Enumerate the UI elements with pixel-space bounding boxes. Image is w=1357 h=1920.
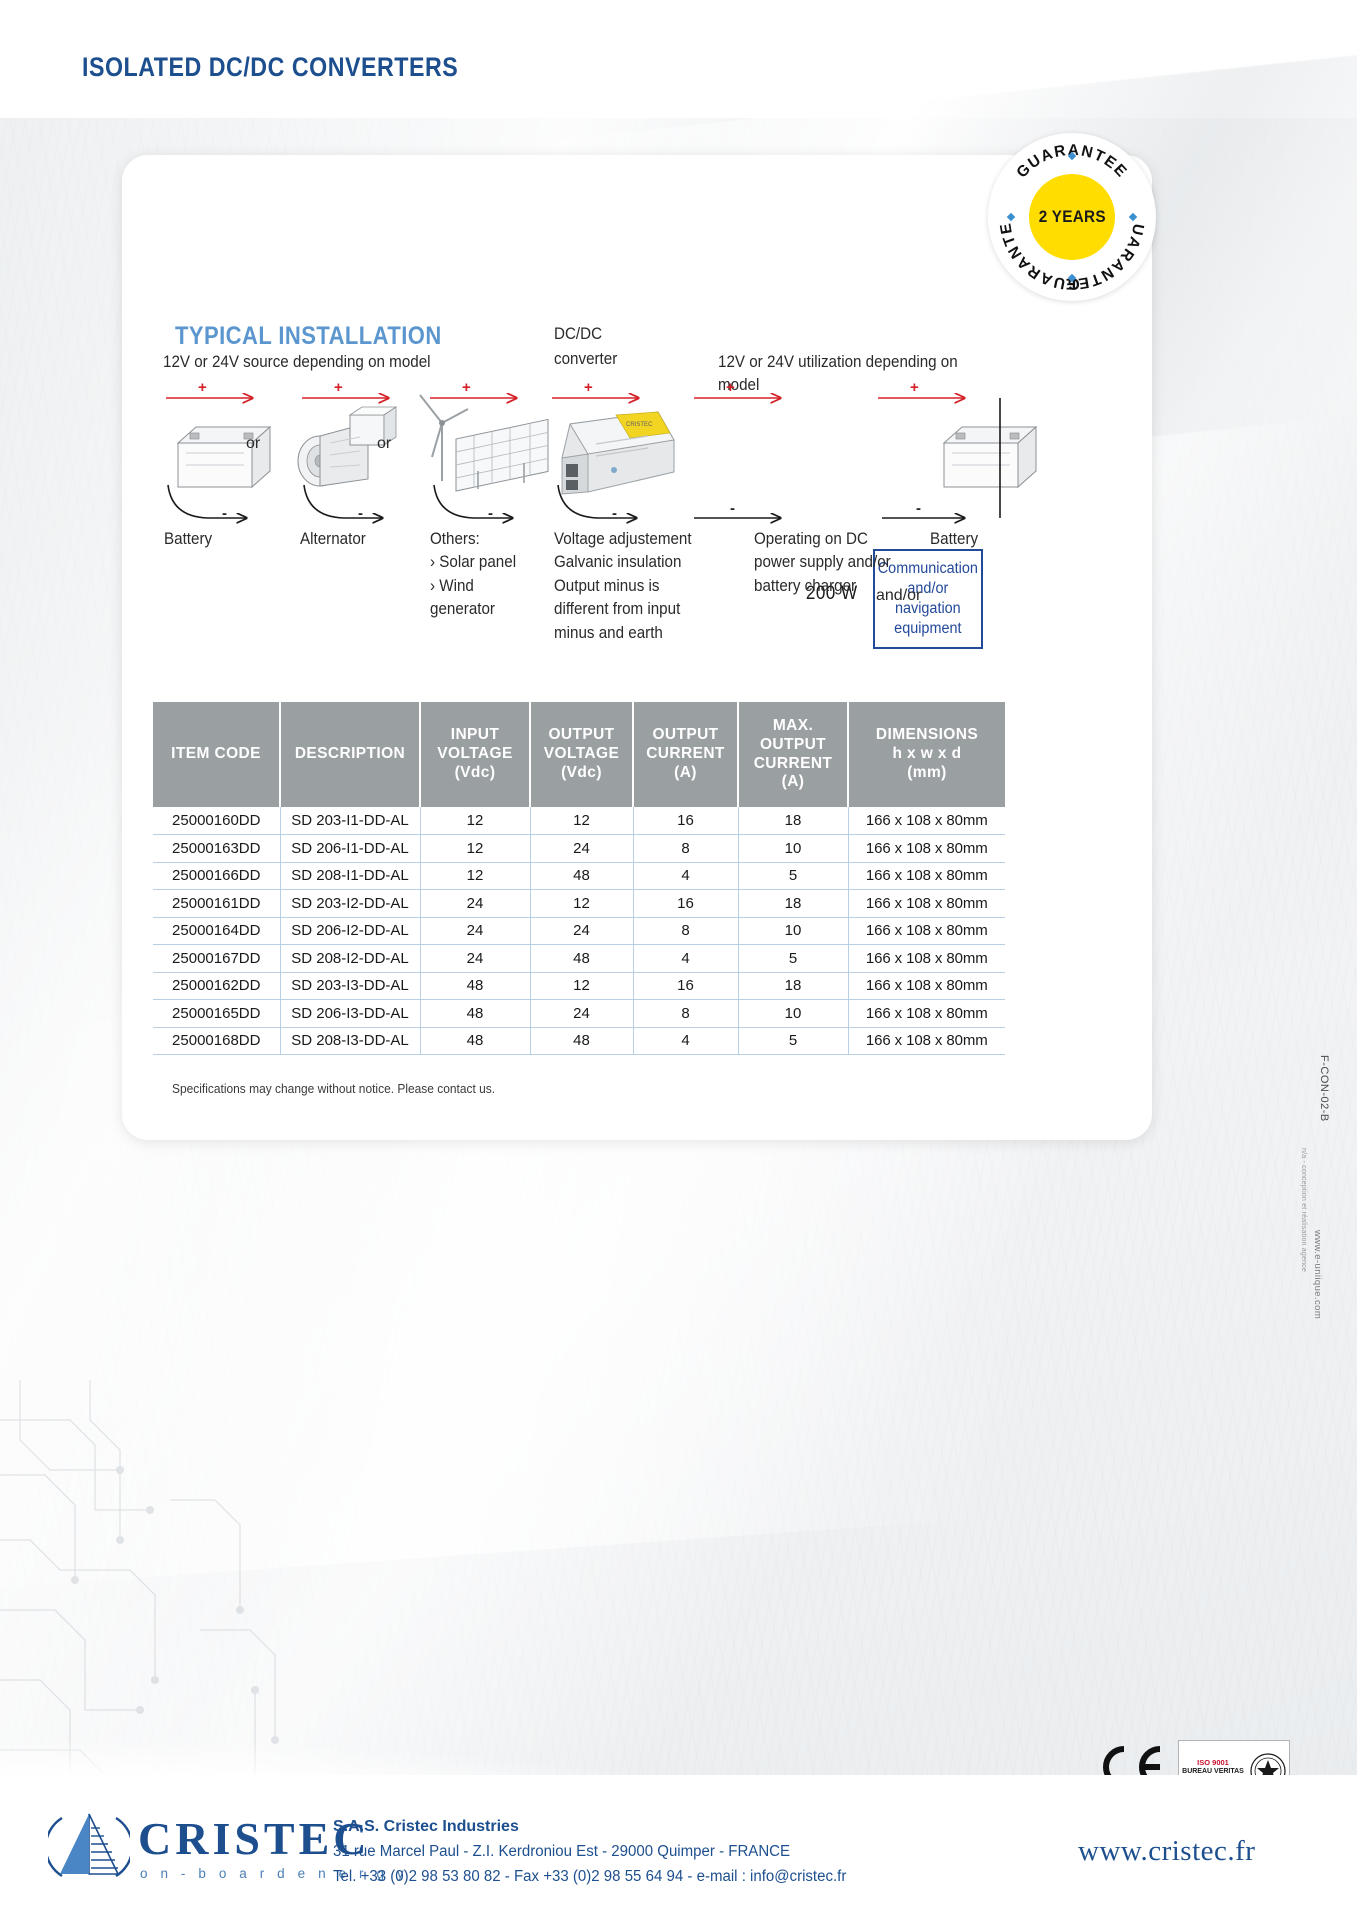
table-cell-output-voltage: 24 xyxy=(530,835,633,863)
table-row: 25000161DDSD 203-I2-DD-AL24121618166 x 1… xyxy=(153,890,1005,918)
table-cell-output-voltage: 24 xyxy=(530,1000,633,1028)
table-cell-dimensions: 166 x 108 x 80mm xyxy=(848,807,1005,835)
table-cell-dimensions: 166 x 108 x 80mm xyxy=(848,945,1005,973)
table-cell-description: SD 208-I2-DD-AL xyxy=(280,945,420,973)
table-cell-max-output-current: 10 xyxy=(738,1000,848,1028)
col-output-voltage: OUTPUT VOLTAGE (Vdc) xyxy=(530,702,633,807)
table-cell-max-output-current: 18 xyxy=(738,890,848,918)
table-cell-max-output-current: 5 xyxy=(738,862,848,890)
table-cell-max-output-current: 18 xyxy=(738,972,848,1000)
table-cell-dimensions: 166 x 108 x 80mm xyxy=(848,1000,1005,1028)
table-cell-dimensions: 166 x 108 x 80mm xyxy=(848,972,1005,1000)
table-cell-dimensions: 166 x 108 x 80mm xyxy=(848,1027,1005,1055)
table-row: 25000164DDSD 206-I2-DD-AL2424810166 x 10… xyxy=(153,917,1005,945)
table-cell-dimensions: 166 x 108 x 80mm xyxy=(848,835,1005,863)
company-address: 31 rue Marcel Paul - Z.I. Kerdroniou Est… xyxy=(333,1843,790,1861)
company-contact: Tel. +33 (0)2 98 53 80 82 - Fax +33 (0)2… xyxy=(333,1868,846,1886)
company-website[interactable]: www.cristec.fr xyxy=(1078,1835,1255,1868)
minus-sign-1: - xyxy=(222,505,227,522)
table-cell-output-voltage: 12 xyxy=(530,890,633,918)
table-cell-output-current: 8 xyxy=(633,835,738,863)
table-cell-item-code: 25000161DD xyxy=(153,890,280,918)
table-cell-input-voltage: 48 xyxy=(420,972,530,1000)
plus-sign-1: + xyxy=(198,379,207,396)
table-cell-output-current: 8 xyxy=(633,917,738,945)
plus-sign-2: + xyxy=(334,379,343,396)
table-row: 25000166DDSD 208-I1-DD-AL124845166 x 108… xyxy=(153,862,1005,890)
table-cell-input-voltage: 24 xyxy=(420,917,530,945)
table-cell-output-voltage: 24 xyxy=(530,917,633,945)
page-title: ISOLATED DC/DC CONVERTERS xyxy=(82,52,458,83)
table-cell-input-voltage: 24 xyxy=(420,945,530,973)
table-cell-output-current: 4 xyxy=(633,945,738,973)
col-output-current: OUTPUT CURRENT (A) xyxy=(633,702,738,807)
table-cell-dimensions: 166 x 108 x 80mm xyxy=(848,890,1005,918)
table-cell-item-code: 25000160DD xyxy=(153,807,280,835)
table-cell-description: SD 206-I3-DD-AL xyxy=(280,1000,420,1028)
col-description: DESCRIPTION xyxy=(280,702,420,807)
col-max-output-current: MAX. OUTPUT CURRENT (A) xyxy=(738,702,848,807)
col-item-code: ITEM CODE xyxy=(153,702,280,807)
table-cell-max-output-current: 18 xyxy=(738,807,848,835)
table-row: 25000167DDSD 208-I2-DD-AL244845166 x 108… xyxy=(153,945,1005,973)
table-cell-output-voltage: 12 xyxy=(530,807,633,835)
table-cell-description: SD 208-I3-DD-AL xyxy=(280,1027,420,1055)
minus-sign-6: - xyxy=(916,500,921,517)
table-cell-output-current: 16 xyxy=(633,890,738,918)
specifications-table: ITEM CODE DESCRIPTION INPUT VOLTAGE (Vdc… xyxy=(153,702,1005,1055)
plus-sign-6: + xyxy=(910,379,919,396)
plus-sign-3: + xyxy=(462,379,471,396)
table-cell-item-code: 25000167DD xyxy=(153,945,280,973)
table-cell-item-code: 25000166DD xyxy=(153,862,280,890)
footer-swoosh-decoration xyxy=(0,1740,760,1810)
table-cell-output-current: 16 xyxy=(633,807,738,835)
table-cell-output-voltage: 48 xyxy=(530,1027,633,1055)
cristec-logo-icon xyxy=(48,1806,130,1888)
table-cell-input-voltage: 12 xyxy=(420,862,530,890)
plus-sign-4: + xyxy=(584,379,593,396)
table-row: 25000160DDSD 203-I1-DD-AL12121618166 x 1… xyxy=(153,807,1005,835)
table-row: 25000162DDSD 203-I3-DD-AL48121618166 x 1… xyxy=(153,972,1005,1000)
table-cell-description: SD 203-I3-DD-AL xyxy=(280,972,420,1000)
table-row: 25000168DDSD 208-I3-DD-AL484845166 x 108… xyxy=(153,1027,1005,1055)
table-cell-item-code: 25000163DD xyxy=(153,835,280,863)
agency-url: www.e-uniique.com xyxy=(1312,1230,1323,1319)
table-cell-input-voltage: 48 xyxy=(420,1027,530,1055)
company-name: S.A.S. Cristec Industries xyxy=(333,1818,519,1836)
table-footnote: Specifications may change without notice… xyxy=(172,1081,495,1096)
table-cell-max-output-current: 5 xyxy=(738,1027,848,1055)
minus-sign-2: - xyxy=(358,505,363,522)
document-code: F-CON-02-B xyxy=(1318,1055,1330,1122)
table-cell-item-code: 25000164DD xyxy=(153,917,280,945)
table-cell-max-output-current: 10 xyxy=(738,917,848,945)
table-cell-description: SD 203-I2-DD-AL xyxy=(280,890,420,918)
table-row: 25000165DDSD 206-I3-DD-AL4824810166 x 10… xyxy=(153,1000,1005,1028)
table-cell-output-current: 4 xyxy=(633,1027,738,1055)
col-input-voltage: INPUT VOLTAGE (Vdc) xyxy=(420,702,530,807)
table-cell-description: SD 203-I1-DD-AL xyxy=(280,807,420,835)
table-cell-output-current: 8 xyxy=(633,1000,738,1028)
minus-sign-4: - xyxy=(612,505,617,522)
table-cell-max-output-current: 10 xyxy=(738,835,848,863)
table-cell-item-code: 25000168DD xyxy=(153,1027,280,1055)
table-header-row: ITEM CODE DESCRIPTION INPUT VOLTAGE (Vdc… xyxy=(153,702,1005,807)
table-cell-dimensions: 166 x 108 x 80mm xyxy=(848,917,1005,945)
table-cell-output-voltage: 12 xyxy=(530,972,633,1000)
plus-sign-5: + xyxy=(726,379,735,396)
minus-sign-5: - xyxy=(730,500,735,517)
table-cell-description: SD 206-I2-DD-AL xyxy=(280,917,420,945)
table-cell-output-voltage: 48 xyxy=(530,945,633,973)
minus-sign-3: - xyxy=(488,505,493,522)
bv-iso-label: ISO 9001 xyxy=(1179,1758,1247,1767)
table-cell-input-voltage: 12 xyxy=(420,807,530,835)
table-cell-input-voltage: 48 xyxy=(420,1000,530,1028)
table-cell-output-current: 4 xyxy=(633,862,738,890)
table-cell-input-voltage: 12 xyxy=(420,835,530,863)
table-cell-output-current: 16 xyxy=(633,972,738,1000)
table-cell-item-code: 25000162DD xyxy=(153,972,280,1000)
table-cell-description: SD 206-I1-DD-AL xyxy=(280,835,420,863)
table-cell-output-voltage: 48 xyxy=(530,862,633,890)
table-cell-description: SD 208-I1-DD-AL xyxy=(280,862,420,890)
table-cell-input-voltage: 24 xyxy=(420,890,530,918)
diagram-arrows xyxy=(122,155,1152,715)
table-row: 25000163DDSD 206-I1-DD-AL1224810166 x 10… xyxy=(153,835,1005,863)
typical-installation-diagram: 12V or 24V source depending on model DC/… xyxy=(122,155,1152,715)
agency-credit: n/a - conception et réalisation agence xyxy=(1300,1148,1307,1272)
table-cell-item-code: 25000165DD xyxy=(153,1000,280,1028)
col-dimensions: DIMENSIONS h x w x d (mm) xyxy=(848,702,1005,807)
table-cell-dimensions: 166 x 108 x 80mm xyxy=(848,862,1005,890)
table-cell-max-output-current: 5 xyxy=(738,945,848,973)
